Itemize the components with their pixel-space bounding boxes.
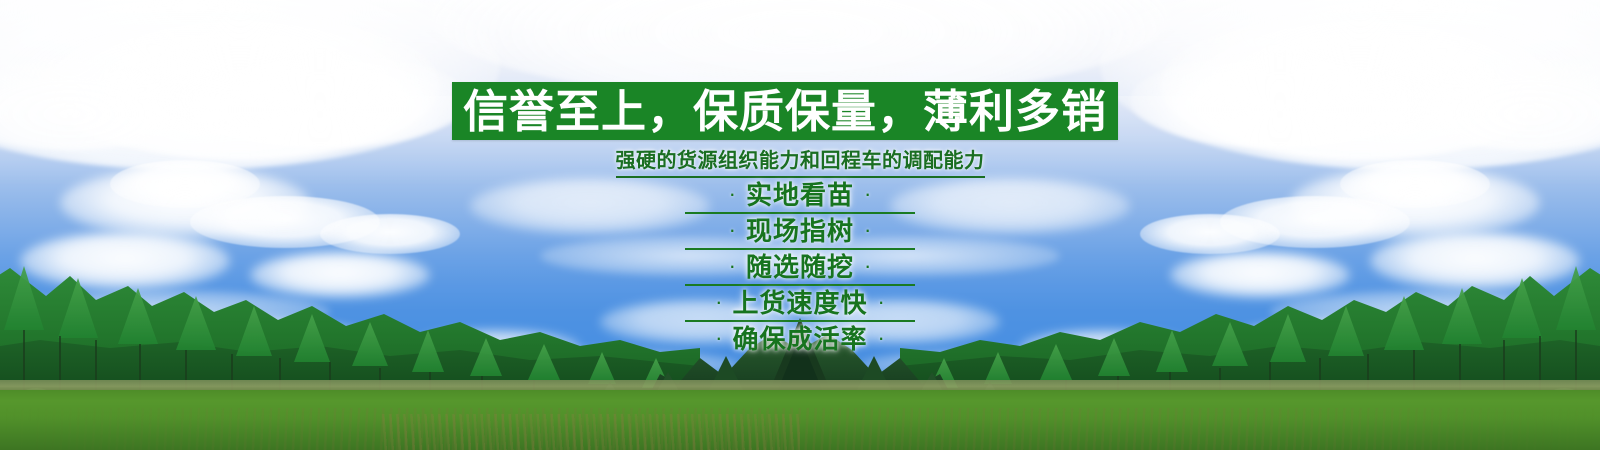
bullet-dot-icon: · — [715, 291, 722, 313]
bullet-dot-icon: · — [878, 327, 885, 349]
headline-text: 信誉至上，保质保量，薄利多销 — [463, 89, 1107, 134]
bullet-dot-icon: · — [729, 219, 736, 241]
service-label: 随选随挖 — [746, 255, 854, 281]
service-label: 确保成活率 — [732, 327, 867, 353]
crop-rows — [0, 408, 1600, 450]
bullet-dot-icon: · — [864, 183, 871, 205]
bullet-dot-icon: · — [864, 255, 871, 277]
list-item: · 确保成活率 · — [0, 322, 1600, 358]
list-item: · 上货速度快 · — [0, 286, 1600, 322]
promo-banner: 信誉至上，保质保量，薄利多销 强硬的货源组织能力和回程车的调配能力 · 实地看苗… — [0, 0, 1600, 450]
service-list: · 实地看苗 · · 现场指树 · · 随选随挖 · · 上货速度快 · · 确… — [0, 178, 1600, 358]
bullet-dot-icon: · — [729, 183, 736, 205]
list-item: · 现场指树 · — [0, 214, 1600, 250]
subtitle: 强硬的货源组织能力和回程车的调配能力 — [0, 144, 1600, 178]
list-item: · 实地看苗 · — [0, 178, 1600, 214]
crop-rows-center — [380, 414, 800, 450]
headline-banner: 信誉至上，保质保量，薄利多销 — [452, 82, 1118, 140]
bullet-dot-icon: · — [715, 327, 722, 349]
list-item: · 随选随挖 · — [0, 250, 1600, 286]
bullet-dot-icon: · — [729, 255, 736, 277]
subtitle-text: 强硬的货源组织能力和回程车的调配能力 — [616, 144, 985, 178]
service-label: 现场指树 — [746, 219, 854, 245]
service-label: 实地看苗 — [746, 183, 854, 209]
bullet-dot-icon: · — [878, 291, 885, 313]
bullet-dot-icon: · — [864, 219, 871, 241]
service-label: 上货速度快 — [732, 291, 867, 317]
